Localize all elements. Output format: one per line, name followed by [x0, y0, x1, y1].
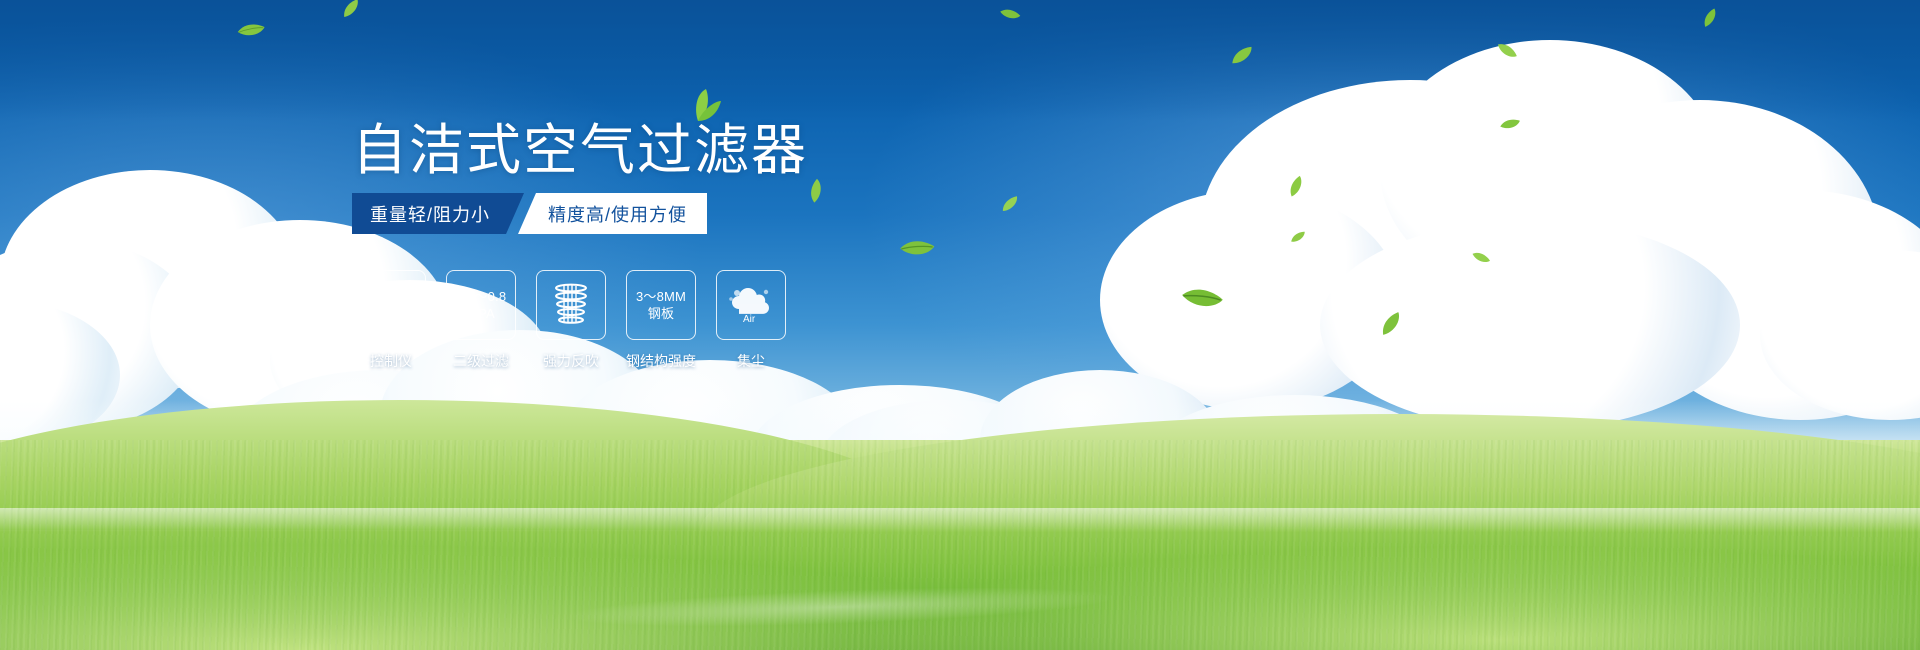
pressure-text-icon: 0.6～0.8 MPA: [456, 288, 507, 322]
feature-icon-box: [536, 270, 606, 340]
banner-content: 自洁式空气过滤器 重量轻/阻力小 精度高/使用方便: [0, 0, 1920, 650]
reverse-blow-icon: [547, 280, 595, 330]
steel-plate-text-icon: 3～8MM 钢板: [636, 288, 686, 322]
badge-weight-resistance: 重量轻/阻力小: [352, 193, 524, 234]
feature-icon-box: 0.6～0.8 MPA: [446, 270, 516, 340]
feature-icon-box: 3～8MM 钢板: [626, 270, 696, 340]
feature-caption: 强力反吹: [543, 351, 599, 371]
hero-banner: 自洁式空气过滤器 重量轻/阻力小 精度高/使用方便: [0, 0, 1920, 650]
svg-text:Air: Air: [743, 314, 756, 325]
svg-text:OFF: OFF: [404, 320, 416, 326]
control-dial-icon: NO OFF: [364, 280, 418, 330]
feature-icon-box: NO OFF: [356, 270, 426, 340]
feature-item: 0.6～0.8 MPA 二级过滤: [446, 270, 516, 371]
pressure-value: 0.6～0.8: [456, 288, 507, 305]
feature-icon-box: Air: [716, 270, 786, 340]
badge-precision-ease: 精度高/使用方便: [518, 193, 707, 234]
tagline-badges: 重量轻/阻力小 精度高/使用方便: [352, 193, 707, 234]
steel-thickness: 3～8MM: [636, 288, 686, 305]
feature-caption: 控制仪: [370, 351, 412, 371]
feature-caption: 钢结构强度: [626, 351, 696, 371]
feature-item: Air 集尘: [716, 270, 786, 371]
page-title: 自洁式空气过滤器: [352, 118, 808, 182]
feature-caption: 集尘: [737, 351, 765, 371]
feature-item: NO OFF 控制仪: [356, 270, 426, 371]
title-leaf-icon: [676, 88, 722, 127]
svg-text:NO: NO: [367, 303, 376, 309]
steel-material: 钢板: [636, 305, 686, 322]
feature-item: 强力反吹: [536, 270, 606, 371]
air-cloud-icon: Air: [725, 283, 777, 327]
feature-caption: 二级过滤: [453, 351, 509, 371]
pressure-unit: MPA: [456, 305, 507, 322]
feature-item: 3～8MM 钢板 钢结构强度: [626, 270, 696, 371]
feature-list: NO OFF 控制仪 0.6～0.8 MPA 二级过滤: [356, 270, 786, 371]
